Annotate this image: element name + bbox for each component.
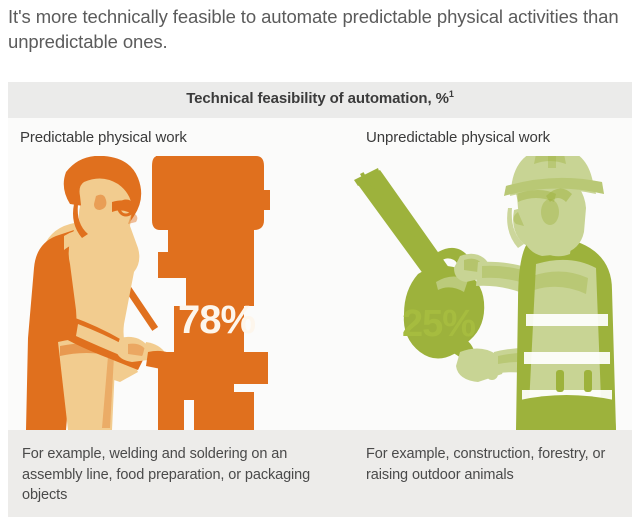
headline: It's more technically feasible to automa…: [8, 4, 624, 54]
chart-body: Predictable physical work Unpredictable …: [8, 118, 632, 430]
illustrations-svg: [8, 156, 632, 430]
illustration-stage: [8, 156, 632, 430]
caption-bar: For example, welding and soldering on an…: [8, 430, 632, 517]
caption-unpredictable: For example, construction, forestry, or …: [366, 444, 616, 485]
worker-torso-vest: [516, 238, 616, 430]
value-predictable: 78%: [178, 298, 255, 343]
orange-percent-block: [152, 156, 264, 230]
column-label-unpredictable: Unpredictable physical work: [366, 129, 550, 146]
machinist-figure: [26, 156, 166, 430]
illustration-forestry-worker-with-chainsaw: [354, 156, 616, 430]
column-label-predictable: Predictable physical work: [20, 129, 187, 146]
chart-title-footnote-marker: 1: [449, 89, 454, 99]
chart-panel: Technical feasibility of automation, %1 …: [8, 82, 632, 517]
chart-title-text: Technical feasibility of automation, %: [186, 90, 449, 107]
value-unpredictable: 25%: [402, 303, 475, 346]
chart-title: Technical feasibility of automation, %1: [8, 90, 632, 107]
caption-predictable: For example, welding and soldering on an…: [22, 444, 342, 506]
